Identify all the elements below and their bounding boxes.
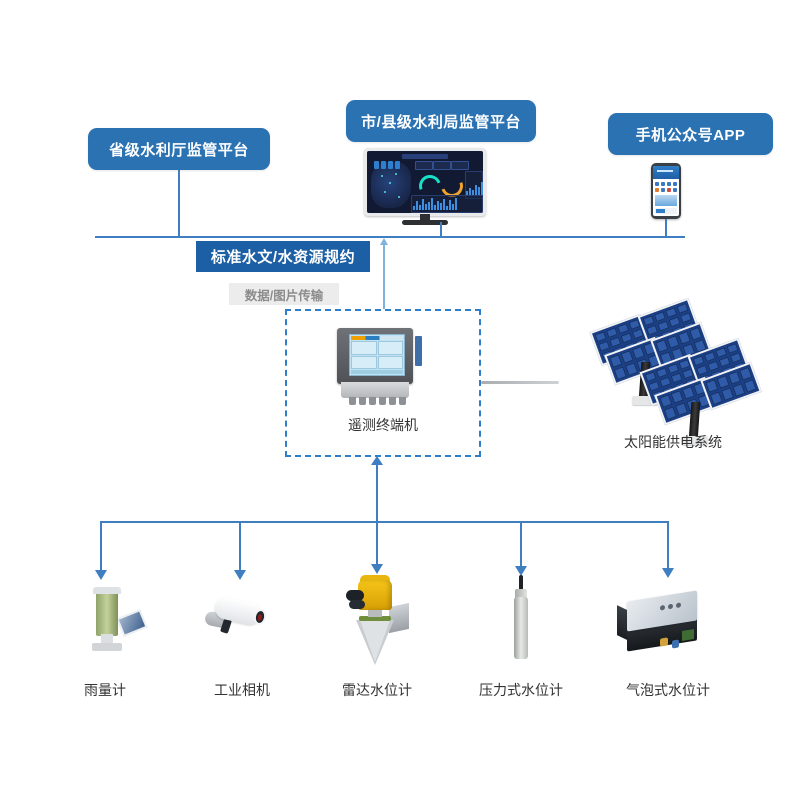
- platform-backbone-line: [95, 236, 685, 238]
- arrow-down-bubble-icon: [662, 568, 674, 578]
- link-city-county: [440, 222, 442, 236]
- arrow-down-rain-gauge-icon: [95, 570, 107, 580]
- sensor-label-rain-gauge: 雨量计: [45, 680, 165, 700]
- branch-camera: [239, 521, 241, 573]
- uplink-line: [383, 245, 385, 309]
- diagram-canvas: 省级水利厅监管平台 市/县级水利局监管平台 手机公众号APP: [0, 0, 800, 800]
- platform-provincial-label: 省级水利厅监管平台: [109, 139, 249, 160]
- arrow-down-radar-icon: [371, 564, 383, 574]
- sensor-label-camera: 工业相机: [182, 680, 302, 700]
- branch-bubble: [667, 521, 669, 571]
- link-mobile-app: [665, 219, 667, 236]
- rtu-uplink-arrow-icon: [371, 456, 383, 465]
- protocol-box: 标准水文/水资源规约: [196, 241, 370, 272]
- rtu-device-icon: [333, 328, 419, 406]
- data-transfer-label: 数据/图片传输: [245, 285, 323, 304]
- power-label: 太阳能供电系统: [588, 432, 758, 452]
- link-provincial: [178, 170, 180, 236]
- sensor-label-bubble: 气泡式水位计: [608, 680, 728, 700]
- platform-mobile-app-label: 手机公众号APP: [636, 124, 746, 145]
- platform-mobile-app[interactable]: 手机公众号APP: [608, 113, 773, 155]
- phone-app-screen: [653, 166, 679, 216]
- dashboard-screen: [367, 151, 483, 213]
- platform-city-county-label: 市/县级水利局监管平台: [361, 111, 521, 132]
- rtu-downlink-line: [376, 465, 378, 523]
- terminal-label: 遥测终端机: [285, 415, 481, 435]
- sensor-label-radar: 雷达水位计: [317, 680, 437, 700]
- branch-radar: [376, 521, 378, 567]
- data-transfer-box: 数据/图片传输: [229, 283, 339, 305]
- uplink-arrow-icon: [380, 238, 388, 245]
- platform-provincial[interactable]: 省级水利厅监管平台: [88, 128, 270, 170]
- sensor-bus-line: [100, 521, 668, 523]
- protocol-label: 标准水文/水资源规约: [211, 246, 355, 267]
- solar-panel-icon: [588, 300, 758, 450]
- antenna-rod-icon: [481, 381, 559, 384]
- sensor-label-pressure: 压力式水位计: [461, 680, 581, 700]
- monitor-icon: [364, 148, 486, 222]
- smartphone-icon: [651, 163, 681, 219]
- branch-pressure: [520, 521, 522, 569]
- platform-city-county[interactable]: 市/县级水利局监管平台: [346, 100, 536, 142]
- branch-rain-gauge: [100, 521, 102, 573]
- monitor-bezel: [364, 148, 486, 216]
- arrow-down-camera-icon: [234, 570, 246, 580]
